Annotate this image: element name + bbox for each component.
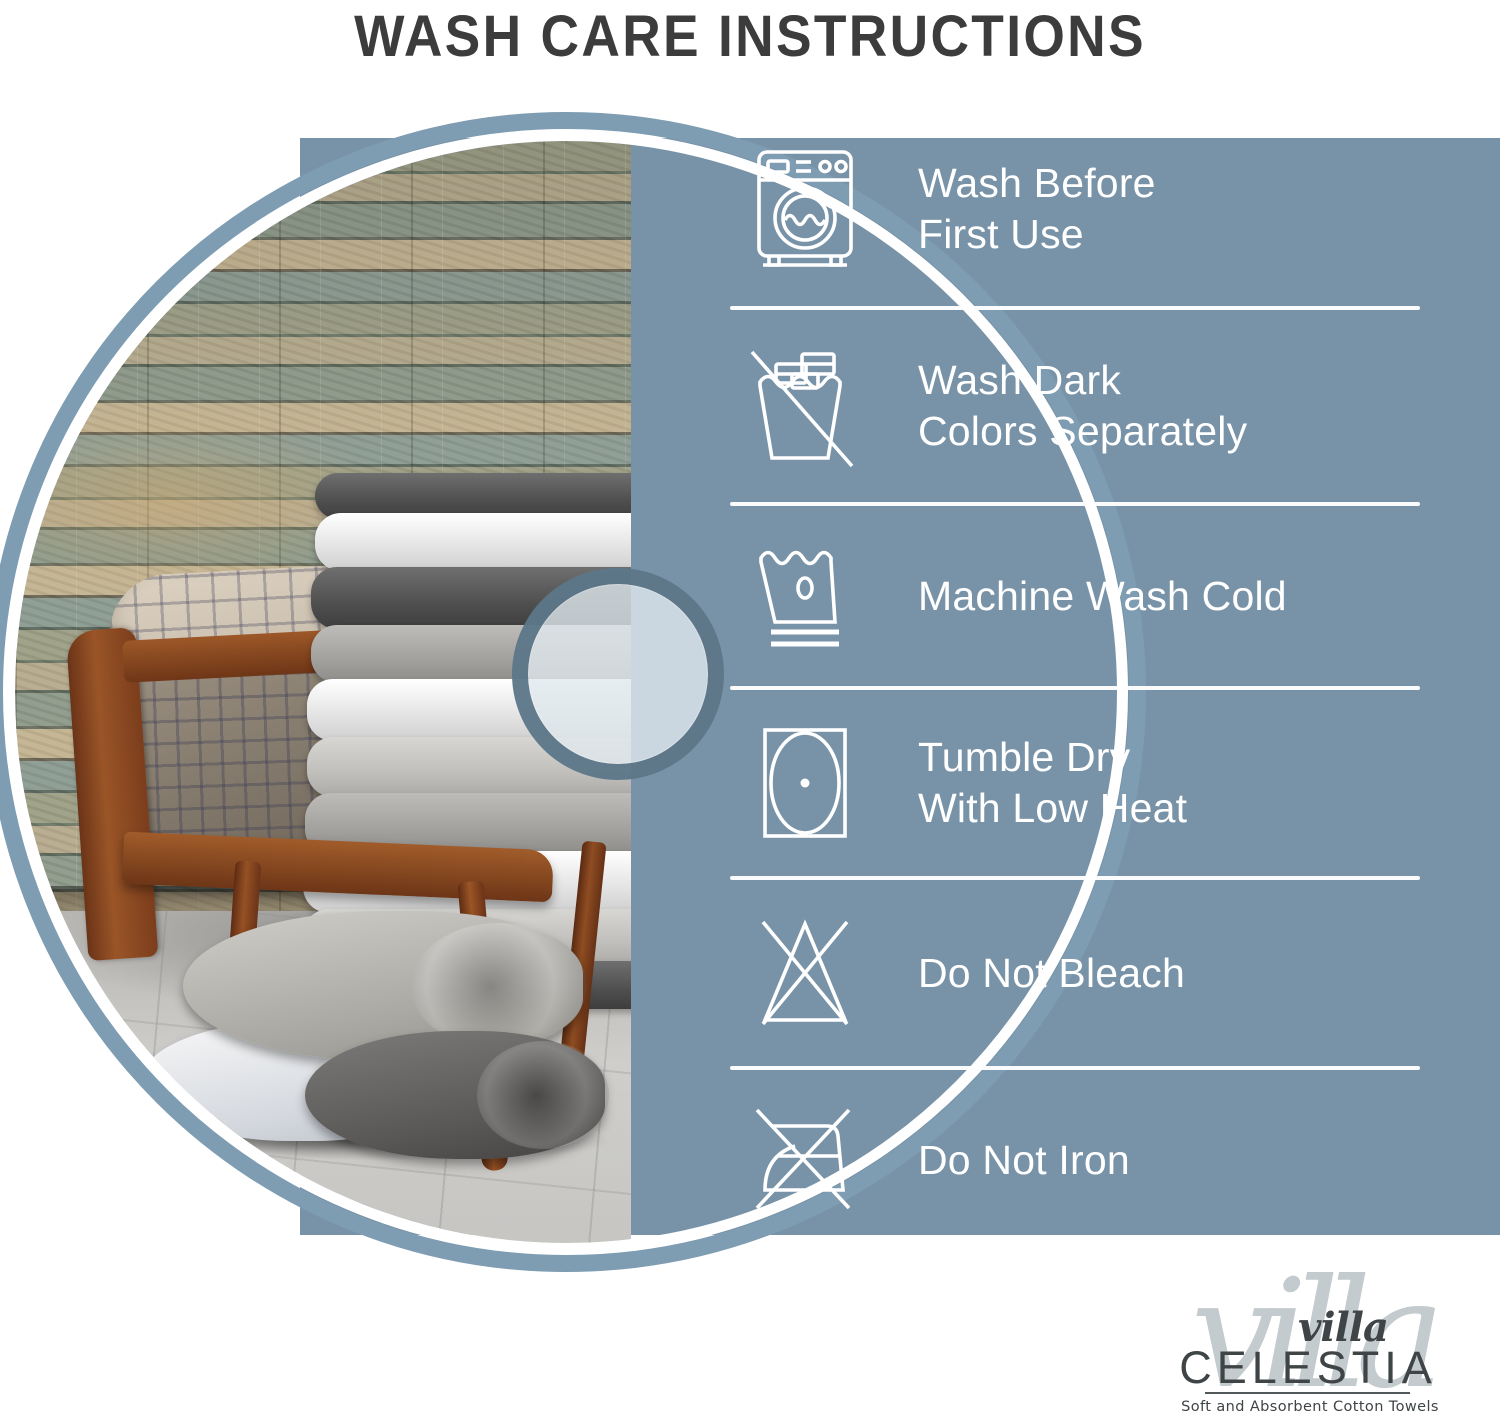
row-spacer [730, 652, 1430, 686]
instruction-label: Do Not Bleach [880, 948, 1185, 999]
machine-wash-cold-icon [730, 540, 880, 652]
row-divider [730, 876, 1420, 880]
rolled-towel-end [477, 1041, 609, 1149]
wash-care-instructions-graphic: WASH CARE INSTRUCTIONS [0, 0, 1500, 1419]
row-spacer [730, 880, 1430, 914]
instruction-row-tumble-dry-with-low-heat: Tumble Dry With Low Heat [730, 724, 1430, 842]
row-spacer [730, 310, 1430, 344]
page-title: WASH CARE INSTRUCTIONS [60, 2, 1440, 72]
instruction-row-wash-dark-colors-separately: Wash Dark Colors Separately [730, 344, 1430, 468]
instruction-row-do-not-iron: Do Not Iron [730, 1104, 1430, 1216]
do-not-iron-icon [730, 1104, 880, 1216]
instruction-row-do-not-bleach: Do Not Bleach [730, 914, 1430, 1032]
washing-machine-icon [730, 146, 880, 272]
do-not-bleach-icon [730, 914, 880, 1032]
row-spacer [730, 468, 1430, 502]
row-spacer [730, 842, 1430, 876]
zoom-lens-overlay-icon [512, 568, 724, 780]
row-spacer [730, 1032, 1430, 1066]
row-divider [730, 306, 1420, 310]
towel-stack-item [315, 513, 631, 571]
brand-logo: villa villa CELESTIA Soft and Absorbent … [1145, 1268, 1475, 1416]
row-spacer [730, 272, 1430, 306]
row-spacer [730, 690, 1430, 724]
row-divider [730, 1066, 1420, 1070]
logo-tagline: Soft and Absorbent Cotton Towels [1145, 1396, 1475, 1418]
do-not-wash-with-others-icon [730, 344, 880, 468]
logo-brand-name: CELESTIA [1153, 1344, 1463, 1392]
instruction-label: Machine Wash Cold [880, 571, 1287, 622]
rolled-towel-dark-grey [305, 1031, 605, 1159]
row-divider [730, 686, 1420, 690]
tumble-dry-low-heat-icon [730, 724, 880, 842]
row-spacer [730, 1070, 1430, 1104]
instruction-label: Tumble Dry With Low Heat [880, 732, 1187, 834]
instruction-label: Wash Before First Use [880, 158, 1156, 260]
rolled-towel-end [411, 923, 587, 1049]
instruction-list: Wash Before First Use [730, 146, 1430, 1216]
instruction-row-machine-wash-cold: Machine Wash Cold [730, 540, 1430, 652]
row-divider [730, 502, 1420, 506]
row-spacer [730, 506, 1430, 540]
instruction-row-wash-before-first-use: Wash Before First Use [730, 146, 1430, 272]
instruction-label: Wash Dark Colors Separately [880, 355, 1247, 457]
instruction-label: Do Not Iron [880, 1135, 1130, 1186]
logo-divider [1205, 1392, 1410, 1394]
